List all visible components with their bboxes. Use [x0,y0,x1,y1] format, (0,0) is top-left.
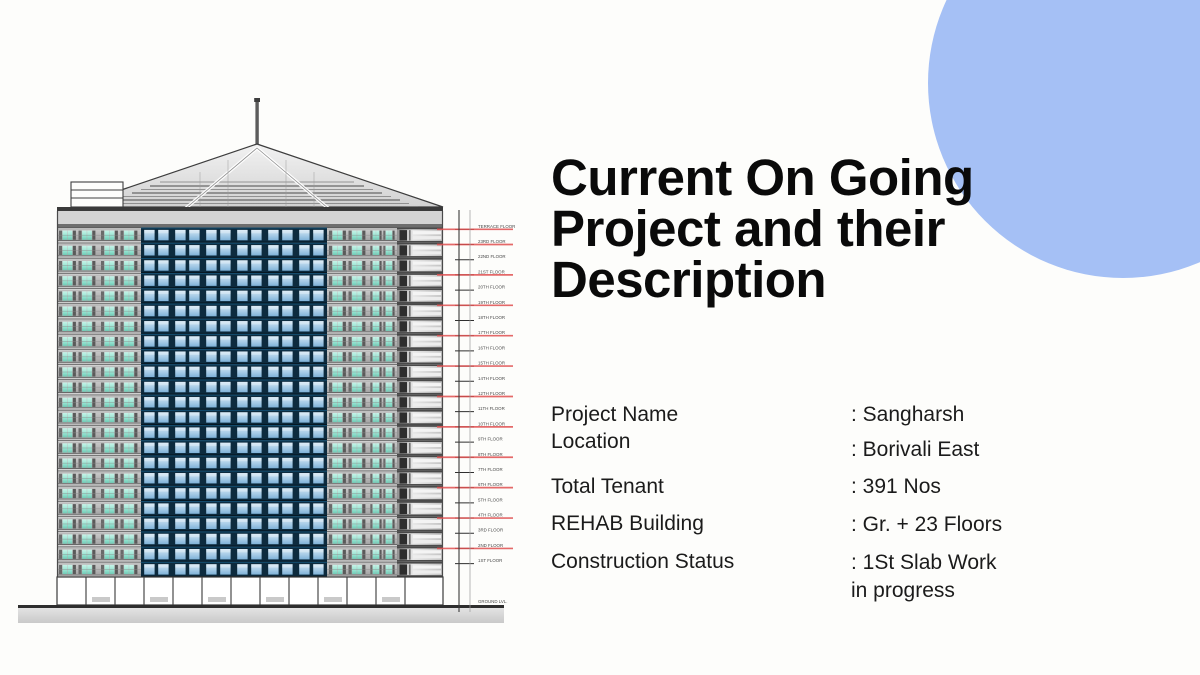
floor-level-label: TERRACE FLOOR [478,224,515,229]
spec-value-construction-status: : 1St Slab Work in progress [851,548,1111,605]
floor-level-label: 2ND FLOOR [478,543,503,548]
spec-value-total-tenant: : 391 Nos [851,473,1111,501]
roof-structure [57,98,455,228]
floor-level-label: 22ND FLOOR [478,254,506,259]
spec-value-location: : Borivali East [851,428,1111,464]
floor-level-label: 23RD FLOOR [478,239,506,244]
table-row: REHAB Building : Gr. + 23 Floors [551,510,1111,539]
floor-level-label: 21ST FLOOR [478,269,505,274]
ground-level-label: GROUND LVL. [478,599,507,604]
building-elevation-drawing: TERRACE FLOOR23RD FLOOR22ND FLOOR21ST FL… [0,60,540,630]
table-row: Project Name : Sangharsh [551,401,1111,429]
spec-label-construction-status: Construction Status [551,548,851,576]
table-row: Location : Borivali East [551,428,1111,464]
floor-level-label: 17TH FLOOR [478,330,505,335]
floor-level-label: 3RD FLOOR [478,528,503,533]
table-row: Construction Status : 1St Slab Work in p… [551,548,1111,605]
floor-level-label: 12TH FLOOR [478,391,505,396]
floor-level-label: 11TH FLOOR [478,406,505,411]
facade-floors [57,228,443,578]
page-title: Current On Going Project and their Descr… [551,152,1021,305]
ground-floor-podium [57,577,443,605]
floor-level-label: 9TH FLOOR [478,437,503,442]
spec-label-total-tenant: Total Tenant [551,473,851,501]
floor-level-label: 5TH FLOOR [478,497,503,502]
floor-level-label: 19TH FLOOR [478,300,505,305]
floor-level-label: 14TH FLOOR [478,376,505,381]
floor-level-label: 1ST FLOOR [478,558,502,563]
floor-level-label: 8TH FLOOR [478,452,503,457]
slide-canvas: TERRACE FLOOR23RD FLOOR22ND FLOOR21ST FL… [0,0,1200,675]
spec-label-rehab-building: REHAB Building [551,510,851,538]
ground-plinth [18,605,504,623]
floor-level-markers: TERRACE FLOOR23RD FLOOR22ND FLOOR21ST FL… [437,224,515,604]
spec-label-project-name: Project Name [551,401,851,429]
floor-level-label: 18TH FLOOR [478,315,505,320]
spec-value-project-name: : Sangharsh [851,401,1111,429]
floor-level-label: 20TH FLOOR [478,285,505,290]
floor-level-label: 6TH FLOOR [478,482,503,487]
table-row: Total Tenant : 391 Nos [551,473,1111,501]
spec-value-rehab-building: : Gr. + 23 Floors [851,510,1111,539]
floor-level-label: 16TH FLOOR [478,345,505,350]
floor-level-label: 7TH FLOOR [478,467,503,472]
floor-level-label: 15TH FLOOR [478,361,505,366]
floor-level-label: 4TH FLOOR [478,513,503,518]
spec-label-location: Location [551,428,851,456]
floor-level-label: 10TH FLOOR [478,421,505,426]
project-details-table: Project Name : Sangharsh Location : Bori… [551,401,1111,605]
